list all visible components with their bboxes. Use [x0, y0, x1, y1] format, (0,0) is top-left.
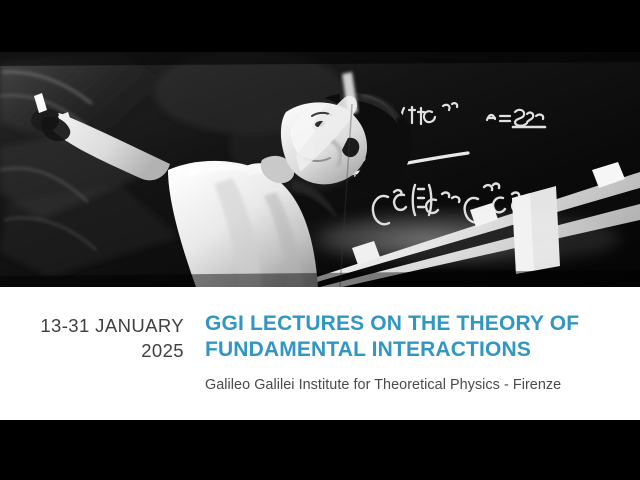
event-dates-line-1: 13-31 JANUARY [0, 313, 184, 338]
event-dates: 13-31 JANUARY 2025 [0, 313, 184, 363]
event-subtitle: Galileo Galilei Institute for Theoretica… [205, 376, 625, 394]
event-dates-line-2: 2025 [0, 338, 184, 363]
event-title: GGI LECTURES ON THE THEORY OF FUNDAMENTA… [205, 311, 625, 394]
caption-panel: 13-31 JANUARY 2025 GGI LECTURES ON THE T… [0, 287, 640, 420]
blackboard-photo [0, 52, 640, 287]
letterbox-top-bar [0, 0, 640, 52]
event-title-line-1: GGI LECTURES ON THE THEORY OF [205, 311, 625, 337]
poster-root: 13-31 JANUARY 2025 GGI LECTURES ON THE T… [0, 0, 640, 480]
letterbox-bottom-bar [0, 420, 640, 480]
event-title-line-2: FUNDAMENTAL INTERACTIONS [205, 337, 625, 363]
blackboard-photo-graphic [0, 52, 640, 287]
